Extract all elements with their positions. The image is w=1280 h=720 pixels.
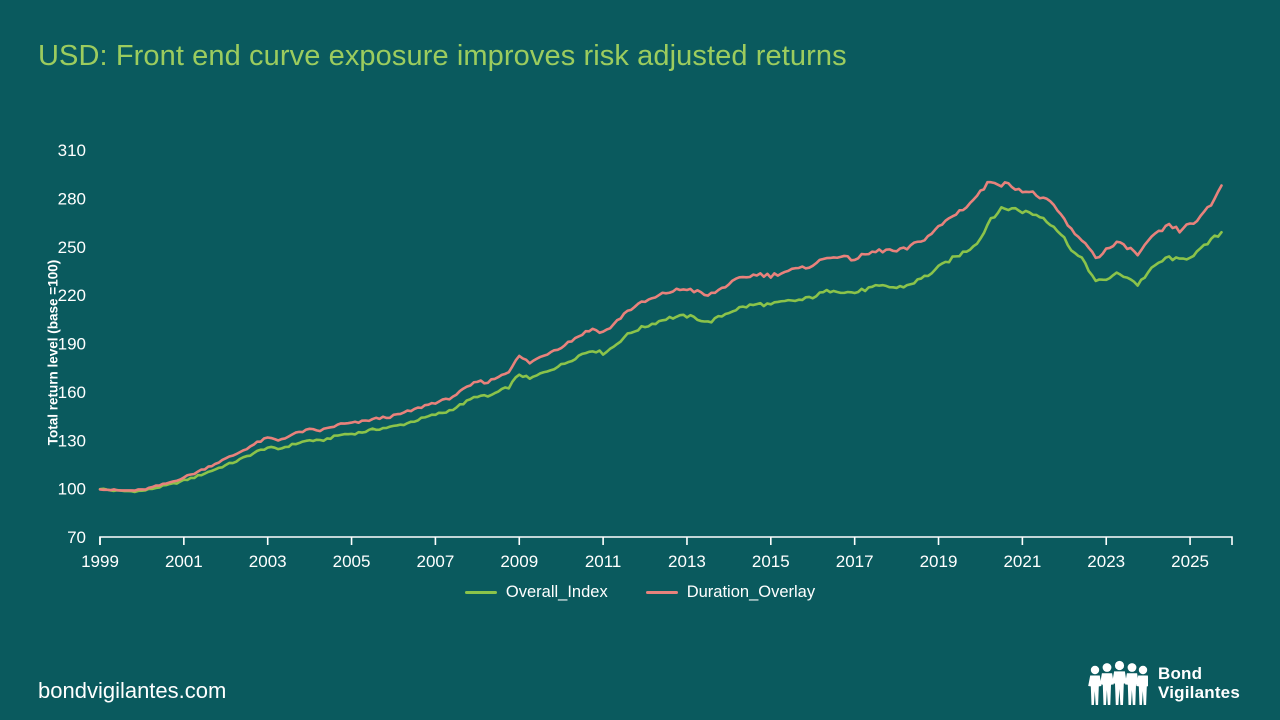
- slide-canvas: USD: Front end curve exposure improves r…: [0, 0, 1280, 720]
- y-tick-label: 310: [58, 141, 86, 160]
- x-tick-label: 2005: [333, 552, 371, 571]
- x-tick-label: 2025: [1171, 552, 1209, 571]
- x-tick-label: 2011: [585, 552, 622, 571]
- x-tick-label: 2013: [668, 552, 706, 571]
- y-tick-label: 220: [58, 286, 86, 305]
- legend-swatch-duration-overlay: [646, 591, 678, 595]
- x-axis-tick-labels: 1999200120032005200720092011201320152017…: [81, 552, 1209, 571]
- brand-logo: Bond Vigilantes: [1086, 660, 1240, 706]
- x-tick-label: 2021: [1003, 552, 1041, 571]
- data-series-group: [100, 182, 1222, 492]
- x-tick-label: 2019: [920, 552, 958, 571]
- legend-label-overall-index: Overall_Index: [506, 583, 608, 602]
- legend-item-duration-overlay[interactable]: Duration_Overlay: [646, 583, 815, 602]
- people-group-icon: [1086, 660, 1148, 706]
- legend-swatch-overall-index: [465, 591, 497, 595]
- x-axis-line: [100, 537, 1232, 545]
- y-tick-label: 100: [58, 480, 86, 499]
- footer-website-url[interactable]: bondvigilantes.com: [38, 678, 226, 704]
- chart-legend: Overall_Index Duration_Overlay: [0, 583, 1280, 602]
- x-tick-label: 2001: [165, 552, 203, 571]
- x-tick-label: 2007: [416, 552, 454, 571]
- brand-logo-text: Bond Vigilantes: [1158, 664, 1240, 702]
- series-line-duration-overlay: [100, 182, 1222, 490]
- x-tick-label: 1999: [81, 552, 119, 571]
- chart-container: Total return level (base =100) 701001301…: [0, 0, 1280, 640]
- brand-logo-line2: Vigilantes: [1158, 683, 1240, 702]
- y-tick-label: 160: [58, 383, 86, 402]
- y-tick-label: 280: [58, 189, 86, 208]
- y-tick-label: 190: [58, 335, 86, 354]
- x-tick-label: 2015: [752, 552, 790, 571]
- y-tick-label: 70: [67, 528, 86, 547]
- y-axis-tick-labels: 70100130160190220250280310: [58, 141, 86, 547]
- x-tick-label: 2023: [1087, 552, 1125, 571]
- x-tick-label: 2003: [249, 552, 287, 571]
- series-line-overall-index: [100, 207, 1222, 492]
- y-tick-label: 250: [58, 238, 86, 257]
- x-tick-label: 2009: [500, 552, 538, 571]
- x-tick-label: 2017: [836, 552, 874, 571]
- legend-label-duration-overlay: Duration_Overlay: [687, 583, 815, 602]
- y-tick-label: 130: [58, 431, 86, 450]
- brand-logo-line1: Bond: [1158, 664, 1240, 683]
- axis-lines: [100, 537, 1232, 545]
- legend-item-overall-index[interactable]: Overall_Index: [465, 583, 608, 602]
- line-chart-plot: 70100130160190220250280310 1999200120032…: [0, 0, 1280, 640]
